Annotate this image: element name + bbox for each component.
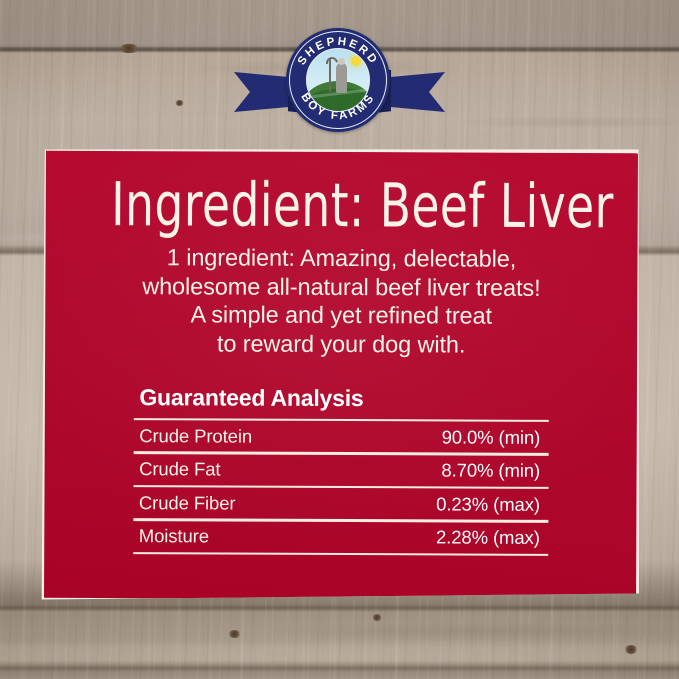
table-row: Crude Fat 8.70% (min) [133,454,548,487]
product-description: 1 ingredient: Amazing, delectable, whole… [73,243,609,360]
label-card-border: Ingredient: Beef Liver 1 ingredient: Ama… [41,147,641,606]
table-row: Moisture 2.28% (max) [133,521,548,554]
brand-logo: SHEPHERD BOY FARMS [232,28,447,132]
description-line-1: 1 ingredient: Amazing, delectable, [73,243,609,274]
table-row: Crude Protein 90.0% (min) [133,420,548,453]
description-line-4: to reward your dog with. [73,329,609,360]
label-card-content: Ingredient: Beef Liver 1 ingredient: Ama… [44,151,638,601]
label-card: Ingredient: Beef Liver 1 ingredient: Ama… [44,151,638,601]
row-label: Crude Fiber [139,492,236,514]
row-value: 8.70% (min) [441,460,540,482]
table-row: Crude Fiber 0.23% (max) [133,487,548,520]
description-line-2: wholesome all-natural beef liver treats! [73,272,609,303]
row-label: Crude Protein [139,425,252,447]
product-label-image: SHEPHERD BOY FARMS Ingredient: Beef Live… [0,0,679,679]
page-title: Ingredient: Beef Liver [111,175,572,239]
row-label: Crude Fat [139,458,220,480]
analysis-heading: Guaranteed Analysis [133,384,548,413]
row-label: Moisture [139,525,209,547]
row-value: 0.23% (max) [436,493,540,515]
row-value: 90.0% (min) [442,426,541,448]
guaranteed-analysis-table: Guaranteed Analysis Crude Protein 90.0% … [133,384,549,556]
description-line-3: A simple and yet refined treat [73,300,609,331]
logo-arc-bottom-text: BOY FARMS [298,91,377,122]
logo-arc-top-text: SHEPHERD [296,36,380,68]
logo-ring-text: SHEPHERD BOY FARMS [286,28,390,132]
row-value: 2.28% (max) [436,527,540,549]
logo-badge: SHEPHERD BOY FARMS [286,28,390,132]
table-divider [133,552,548,556]
